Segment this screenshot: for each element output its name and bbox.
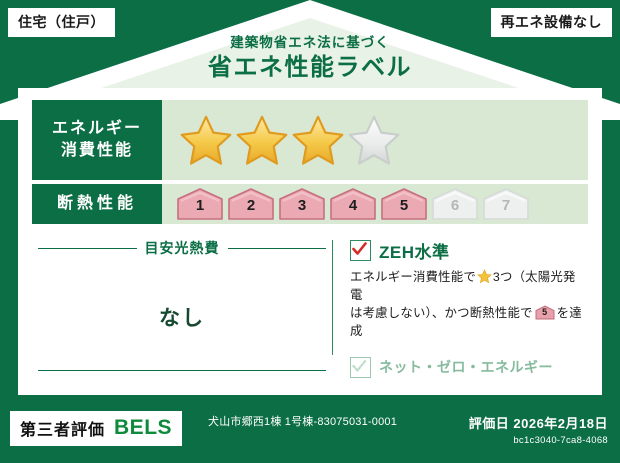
insulation-badge-4: 4 xyxy=(329,187,377,221)
insulation-badge-7: 7 xyxy=(482,187,530,221)
energy-label-line2: 消費性能 xyxy=(61,140,133,162)
insulation-badge-value: 1 xyxy=(176,198,224,213)
insulation-badge-6: 6 xyxy=(431,187,479,221)
evaluation-date-value: 2026年2月18日 xyxy=(513,416,608,431)
zeh-desc-part2: は考慮しない）、かつ断熱性能で xyxy=(350,306,533,320)
insulation-badge-value: 3 xyxy=(278,198,326,213)
insulation-badge-value: 6 xyxy=(431,198,479,213)
rule-left xyxy=(38,248,137,249)
bels-certification-chip: 第三者評価 BELS xyxy=(10,411,182,446)
net-zero-checkbox[interactable] xyxy=(350,357,371,378)
insulation-badge-value: 2 xyxy=(227,198,275,213)
renewable-equipment-tag: 再エネ設備なし xyxy=(491,8,613,37)
star-icon-filled xyxy=(180,114,232,166)
zeh-header: ZEH水準 xyxy=(350,238,588,263)
rule-right xyxy=(228,248,327,249)
energy-performance-row: エネルギー 消費性能 xyxy=(32,100,588,180)
energy-performance-label: エネルギー 消費性能 xyxy=(32,100,162,180)
energy-star-rating xyxy=(162,100,588,180)
utility-cost-section: 目安光熱費 なし xyxy=(32,234,332,389)
utility-cost-header: 目安光熱費 xyxy=(32,238,332,258)
insulation-badge-2: 2 xyxy=(227,187,275,221)
insulation-badge-1: 1 xyxy=(176,187,224,221)
label-body-panel: エネルギー 消費性能 断熱性能 1234567 目安光熱費 なし xyxy=(18,88,602,395)
third-party-label: 第三者評価 xyxy=(20,416,105,440)
zeh-title: ZEH水準 xyxy=(379,238,450,263)
evaluation-date: 評価日 2026年2月18日 xyxy=(469,413,608,432)
insulation-badge-3: 3 xyxy=(278,187,326,221)
star-icon-empty xyxy=(348,114,400,166)
insulation-badge-value: 5 xyxy=(380,198,428,213)
star-icon-filled xyxy=(292,114,344,166)
insulation-performance-label: 断熱性能 xyxy=(32,184,162,224)
zeh-section: ZEH水準 エネルギー消費性能で3つ（太陽光発電 は考慮しない）、かつ断熱性能で… xyxy=(332,234,588,389)
star-icon-filled xyxy=(236,114,288,166)
insulation-badge-value: 7 xyxy=(482,198,530,213)
inline-badge-value: 5 xyxy=(535,308,555,317)
utility-cost-value: なし xyxy=(32,302,332,332)
insulation-performance-row: 断熱性能 1234567 xyxy=(32,184,588,224)
star-icon-inline xyxy=(477,269,492,284)
insulation-badge-value: 4 xyxy=(329,198,377,213)
energy-label-line1: エネルギー xyxy=(52,118,142,140)
evaluation-info: 評価日 2026年2月18日 bc1c3040-7ca8-4068 xyxy=(469,413,608,446)
insulation-badge-5: 5 xyxy=(380,187,428,221)
check-icon-muted xyxy=(352,359,367,374)
zeh-desc-part1: エネルギー消費性能で xyxy=(350,270,476,284)
net-zero-label: ネット・ゼロ・エネルギー xyxy=(379,357,553,377)
zeh-checkbox[interactable] xyxy=(350,240,371,261)
insulation-badge-inline: 5 xyxy=(535,305,555,320)
building-type-tag: 住宅（住戸） xyxy=(8,8,115,37)
check-icon xyxy=(352,242,367,257)
property-address: 犬山市郷西1棟 1号棟-83075031-0001 xyxy=(208,415,438,430)
evaluation-date-label: 評価日 xyxy=(469,416,510,431)
utility-cost-title: 目安光熱費 xyxy=(145,238,220,258)
net-zero-energy-row: ネット・ゼロ・エネルギー xyxy=(350,357,588,378)
footer: 第三者評価 BELS 犬山市郷西1棟 1号棟-83075031-0001 評価日… xyxy=(0,401,620,463)
bels-logo: BELS xyxy=(114,416,172,440)
insulation-level-badges: 1234567 xyxy=(176,187,530,221)
zeh-description: エネルギー消費性能で3つ（太陽光発電 は考慮しない）、かつ断熱性能で5を達成 xyxy=(350,269,588,341)
certificate-uid: bc1c3040-7ca8-4068 xyxy=(469,435,608,446)
utility-cost-bottom-rule xyxy=(38,370,326,371)
